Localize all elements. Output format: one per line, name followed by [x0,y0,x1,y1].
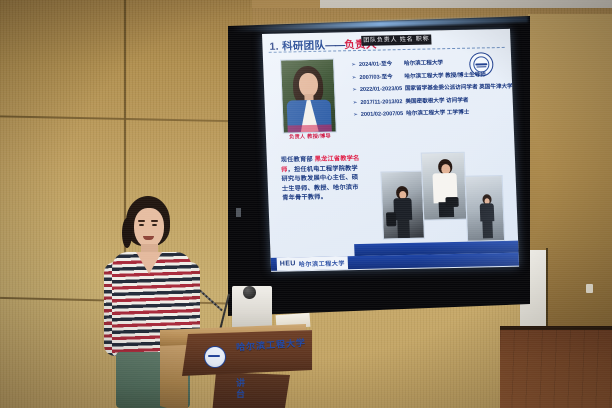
list-item: ➢ 2022/01-2023/05 国家留学基金委公派访问学者 英国牛津大学 [352,84,504,94]
leader-bio-paragraph: 现任教育部 黑龙江省教学名师，担任机电工程学院教学研究与教发展中心主任、硕士生导… [281,154,365,204]
presenter-hair-side [122,218,132,248]
slide-title-highlight: 团队负责人 姓名 职称 [361,34,432,45]
presenter-brow-right [151,220,158,222]
lecture-hall-photo: 1. 科研团队——负责人 团队负责人 姓名 职称 负责人 教授/博导 [0,0,612,408]
bullet-date: 2001/02-2007/05 [361,111,404,119]
presenter-face [134,208,164,248]
bullet-date: 2022/01-2023/05 [360,86,402,94]
list-item: ➢ 2017/11-2013/02 美国密歇根大学 访问学者 [353,97,505,107]
photo-bag [386,212,397,226]
portrait-caption: 负责人 教授/博导 [280,132,340,140]
portrait-caption-band [288,125,332,133]
footer-brand-chinese: 哈尔滨工程大学 [299,258,346,268]
bullet-desc: 哈尔滨工程大学 教授/博士生导师 [404,72,486,81]
footer-brand-abbrev: HEU [280,260,296,267]
photo-lecture [421,152,468,221]
bullet-arrow-icon: ➢ [353,100,358,107]
microphone-head-icon[interactable] [243,286,256,299]
photo-figure [477,194,497,238]
projected-slide: 1. 科研团队——负责人 团队负责人 姓名 职称 负责人 教授/博导 [262,29,519,272]
screen-side-marker [236,208,241,217]
bullet-date: 2017/11-2013/02 [360,99,402,107]
wood-floor [500,330,612,408]
bullet-arrow-icon: ➢ [351,62,356,69]
list-item: ➢ 2024/01-至今 哈尔滨工程大学 [351,59,503,69]
lectern-base-text: 讲台 [234,378,247,400]
figure-legs [482,220,493,238]
bullet-arrow-icon: ➢ [352,75,357,82]
list-item: ➢ 2001/02-2007/05 哈尔滨工程大学 工学博士 [353,109,505,119]
bullet-desc: 哈尔滨工程大学 工学博士 [406,110,469,118]
photo-conference [380,171,425,240]
bullet-arrow-icon: ➢ [352,87,357,94]
figure-torso [393,198,412,220]
photo-handbag [445,197,458,207]
leader-portrait [280,58,337,133]
lectern-base [212,372,290,408]
bullet-date: 2024/01-至今 [359,61,401,69]
figure-legs [397,219,410,238]
bullet-desc: 哈尔滨工程大学 [404,60,443,68]
bullet-desc: 国家留学基金委公派访问学者 英国牛津大学 [405,84,513,93]
bio-part-2: ，担任机电工程学院教学研究与教发展中心主任、硕士生导师、教授、哈尔滨市青年骨干教… [281,165,358,202]
photo-corridor [465,175,506,242]
bio-part-1: 现任教育部 [281,156,315,164]
career-bullet-list: ➢ 2024/01-至今 哈尔滨工程大学 ➢ 2007/03-至今 哈尔滨工程大… [351,59,505,125]
bullet-arrow-icon: ➢ [353,112,358,119]
bullet-desc: 美国密歇根大学 访问学者 [405,97,468,105]
door-knob[interactable] [586,284,593,293]
photo-figure [430,159,460,218]
list-item: ➢ 2007/03-至今 哈尔滨工程大学 教授/博士生导师 [352,72,504,82]
side-door[interactable] [546,248,612,336]
figure-torso [480,203,495,221]
presenter-brow-left [138,220,145,222]
university-crest-icon [204,346,226,368]
bullet-date: 2007/03-至今 [359,74,401,82]
lectern: 讲台 哈尔滨工程大学 [160,306,330,408]
slide-footer-brand: HEU 哈尔滨工程大学 [277,256,349,270]
